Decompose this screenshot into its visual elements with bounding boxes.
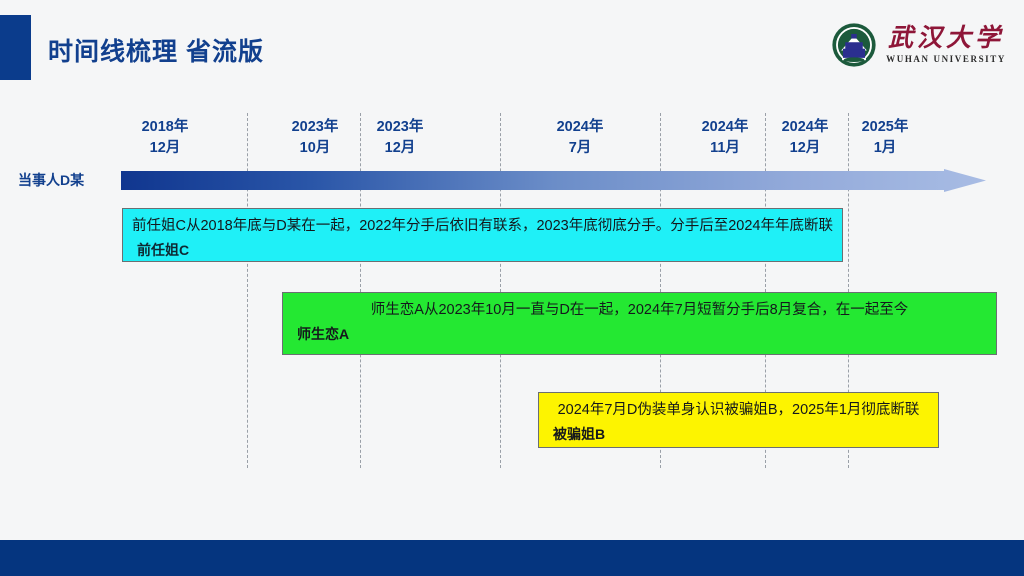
date-label-0: 2018年 12月 — [142, 117, 189, 159]
event-bar-a-tag: 师生恋A — [297, 324, 349, 344]
date-month: 12月 — [790, 140, 821, 156]
date-year: 2024年 — [557, 119, 604, 135]
timeline-arrow — [121, 169, 986, 192]
date-label-5: 2024年 12月 — [782, 117, 829, 159]
gridline — [360, 113, 361, 468]
event-bar-c-tag: 前任姐C — [137, 240, 189, 260]
date-year: 2023年 — [292, 119, 339, 135]
event-bar-c[interactable]: 前任姐C从2018年底与D某在一起，2022年分手后依旧有联系，2023年底彻底… — [122, 208, 843, 262]
gridline — [500, 113, 501, 468]
date-year: 2025年 — [862, 119, 909, 135]
date-year: 2018年 — [142, 119, 189, 135]
date-month: 7月 — [569, 140, 592, 156]
event-bar-c-text: 前任姐C从2018年底与D某在一起，2022年分手后依旧有联系，2023年底彻底… — [131, 216, 834, 238]
timeline-chart: 2018年 12月 2023年 10月 2023年 12月 2024年 7月 2… — [0, 0, 1024, 540]
footer-bar — [0, 540, 1024, 576]
axis-label-subject: 当事人D某 — [18, 170, 84, 191]
event-bar-b-tag: 被骗姐B — [553, 424, 605, 444]
date-month: 12月 — [150, 140, 181, 156]
date-month: 1月 — [874, 140, 897, 156]
date-month: 11月 — [710, 140, 740, 156]
date-month: 10月 — [300, 140, 331, 156]
date-year: 2023年 — [377, 119, 424, 135]
date-month: 12月 — [385, 140, 416, 156]
date-year: 2024年 — [782, 119, 829, 135]
arrow-icon — [121, 169, 986, 192]
date-label-6: 2025年 1月 — [862, 117, 909, 159]
event-bar-a[interactable]: 师生恋A从2023年10月一直与D在一起，2024年7月短暂分手后8月复合，在一… — [282, 292, 997, 355]
date-label-1: 2023年 10月 — [292, 117, 339, 159]
date-label-4: 2024年 11月 — [702, 117, 749, 159]
gridline — [247, 113, 248, 468]
date-label-3: 2024年 7月 — [557, 117, 604, 159]
date-year: 2024年 — [702, 119, 749, 135]
event-bar-a-text: 师生恋A从2023年10月一直与D在一起，2024年7月短暂分手后8月复合，在一… — [291, 300, 988, 322]
event-bar-b-text: 2024年7月D伪装单身认识被骗姐B，2025年1月彻底断联 — [547, 400, 930, 422]
event-bar-b[interactable]: 2024年7月D伪装单身认识被骗姐B，2025年1月彻底断联 被骗姐B — [538, 392, 939, 448]
date-label-2: 2023年 12月 — [377, 117, 424, 159]
